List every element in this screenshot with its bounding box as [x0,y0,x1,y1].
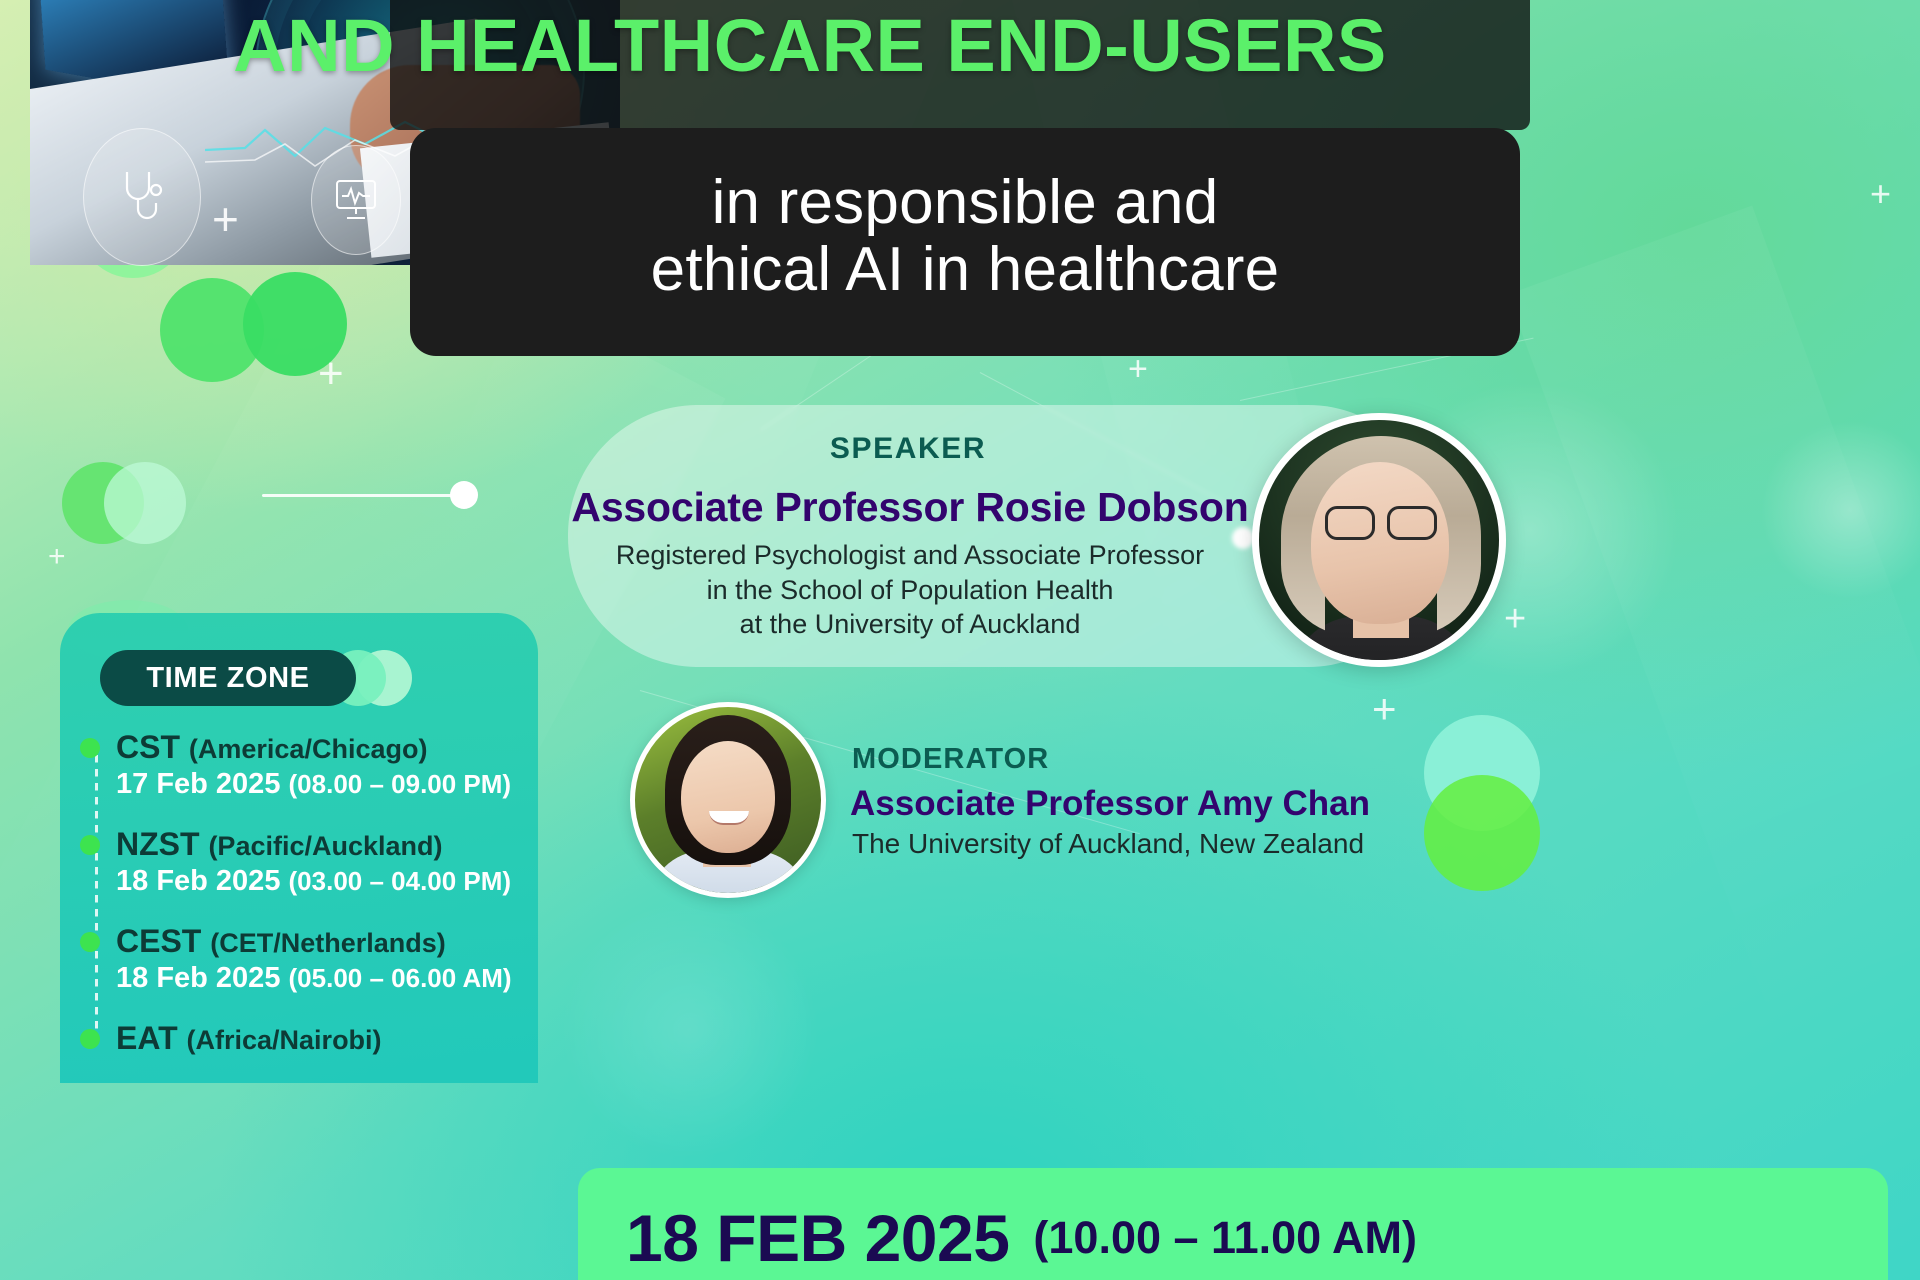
zone-location-text: (Pacific/Auckland) [208,831,442,861]
poster-subtitle-line2: ethical AI in healthcare [651,237,1280,304]
zone-location-text: (Africa/Nairobi) [187,1025,382,1055]
avatar-glasses [1325,506,1437,536]
moderator-name: Associate Professor Amy Chan [850,784,1370,824]
speaker-bio-line3: at the University of Auckland [560,607,1260,642]
time-zone-date: 18 Feb 2025 (03.00 – 04.00 PM) [116,865,550,898]
zone-code-text: NZST [116,826,200,862]
poster-subtitle-line1: in responsible and [712,170,1219,237]
timeline-bullet [80,932,100,952]
moderator-avatar [630,702,826,898]
webinar-poster: + + + + + + + AND HEALTHCARE END-USERS [0,0,1920,1280]
zone-time-text: (05.00 – 06.00 AM) [289,963,512,993]
plus-icon: + [212,196,239,242]
zone-code-text: EAT [116,1020,178,1056]
speaker-name: Associate Professor Rosie Dobson [540,484,1280,531]
speaker-bio-line2: in the School of Population Health [560,573,1260,608]
connector-line [262,494,470,497]
plus-icon: + [1372,688,1397,730]
decorative-circle [1424,775,1540,891]
time-zone-code: CST (America/Chicago) [116,729,550,766]
zone-code-text: CEST [116,923,201,959]
event-date-bar: 18 FEB 2025 (10.00 – 11.00 AM) [578,1168,1888,1280]
zone-date-text: 18 Feb 2025 [116,865,280,897]
zone-location-text: (America/Chicago) [189,734,428,764]
moderator-role-label: MODERATOR [852,743,1049,776]
stethoscope-icon [83,128,201,266]
speaker-role-label: SPEAKER [568,432,1248,466]
time-zone-heading: TIME ZONE [146,662,309,695]
decorative-circle [104,462,186,544]
time-zone-code: EAT (Africa/Nairobi) [116,1020,550,1057]
event-time: (10.00 – 11.00 AM) [1033,1212,1417,1264]
poster-subtitle-box: in responsible and ethical AI in healthc… [410,128,1520,356]
zone-code-text: CST [116,729,180,765]
speaker-avatar [1252,413,1506,667]
zone-time-text: (08.00 – 09.00 PM) [289,769,512,799]
time-zone-date: 18 Feb 2025 (05.00 – 06.00 AM) [116,962,550,995]
event-date: 18 FEB 2025 [626,1200,1009,1276]
plus-icon: + [1128,352,1148,386]
time-zone-code: CEST (CET/Netherlands) [116,923,550,960]
plus-icon: + [1504,600,1526,638]
time-zone-item: NZST (Pacific/Auckland) 18 Feb 2025 (03.… [80,826,550,898]
time-zone-item: CEST (CET/Netherlands) 18 Feb 2025 (05.0… [80,923,550,995]
time-zone-item: CST (America/Chicago) 17 Feb 2025 (08.00… [80,729,550,801]
avatar-face [681,741,775,853]
medical-monitor-icon [311,145,401,255]
timeline-bullet [80,1029,100,1049]
time-zone-heading-pill: TIME ZONE [100,650,356,706]
time-zone-code: NZST (Pacific/Auckland) [116,826,550,863]
timeline-bullet [80,738,100,758]
zone-location-text: (CET/Netherlands) [210,928,446,958]
moderator-affiliation: The University of Auckland, New Zealand [852,828,1364,860]
speaker-bio: Registered Psychologist and Associate Pr… [560,538,1260,642]
time-zone-item: EAT (Africa/Nairobi) [80,1020,550,1057]
zone-date-text: 17 Feb 2025 [116,768,280,800]
zone-date-text: 18 Feb 2025 [116,962,280,994]
plus-icon: + [48,542,66,572]
timeline-bullet [80,835,100,855]
avatar-face [1311,462,1449,624]
connector-dot [450,481,478,509]
plus-icon: + [318,352,344,396]
time-zone-date: 17 Feb 2025 (08.00 – 09.00 PM) [116,768,550,801]
speaker-bio-line1: Registered Psychologist and Associate Pr… [560,538,1260,573]
poster-title-line1: AND HEALTHCARE END-USERS [100,3,1520,88]
zone-time-text: (03.00 – 04.00 PM) [289,866,512,896]
plus-icon: + [1870,176,1891,212]
